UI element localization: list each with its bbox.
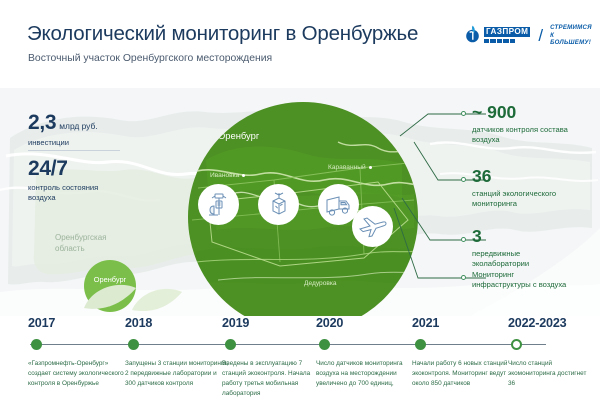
stat-mobile-labs-caption: передвижные эколаборатории [472, 249, 529, 270]
logo-brand-text: ГАЗПРОМ [484, 27, 530, 37]
timeline-year: 2021 [412, 316, 439, 330]
logo-divider: / [538, 27, 543, 44]
timeline-dot[interactable] [225, 339, 236, 350]
page-subtitle: Восточный участок Оренбургского месторож… [28, 53, 272, 64]
leader-endpoint-stations [461, 177, 466, 182]
stat-investment-value: 2,3 [28, 111, 56, 134]
timeline-description: Число станций экомониторинга достигнет 3… [508, 359, 594, 389]
timeline-year: 2020 [316, 316, 343, 330]
timeline: 2017 «Газпромнефть-Оренбург» создает сис… [0, 316, 600, 400]
place-dot [212, 134, 215, 137]
stat-air-infrastructure: Мониторинг инфраструктуры с воздуха [472, 270, 566, 291]
gazprom-neft-logo: ГАЗПРОМ / СТРЕМИМСЯ К БОЛЬШЕМУ! [466, 20, 588, 50]
timeline-dot[interactable] [128, 339, 139, 350]
timeline-dot[interactable] [415, 339, 426, 350]
page-title: Экологический мониторинг в Оренбуржье [27, 22, 418, 46]
timeline-axis [30, 344, 546, 345]
place-label-orenburg: Оренбург [212, 130, 259, 141]
stat-divider [28, 150, 120, 151]
stat-air-sensors-caption: датчиков контроля состава воздуха [472, 125, 568, 146]
timeline-dot[interactable] [319, 339, 330, 350]
stat-air-sensors-value: ~ 900 [472, 104, 568, 122]
airplane-icon [358, 215, 388, 239]
stat-air-infrastructure-caption: Мониторинг инфраструктуры с воздуха [472, 270, 566, 291]
infographic-root: Оренбургская область Оренбург [0, 0, 600, 400]
stat-air-sensors: ~ 900 датчиков контроля состава воздуха [472, 104, 568, 145]
stat-eco-stations-caption: станций экологического мониторинга [472, 189, 556, 210]
timeline-description: Введены в эксплуатацию 7 станций экоконт… [222, 359, 326, 399]
stat-investment-caption: инвестиции [28, 138, 98, 148]
place-label-karavanny: Караванный [328, 164, 372, 171]
stat-eco-stations: 36 станций экологического мониторинга [472, 168, 556, 209]
timeline-year: 2018 [125, 316, 152, 330]
stat-investment: 2,3млрд руб. инвестиции [28, 112, 98, 148]
timeline-dot[interactable] [31, 339, 42, 350]
leader-endpoint-sensors [461, 111, 466, 116]
gazprom-flame-icon [466, 25, 479, 45]
timeline-year: 2022-2023 [508, 316, 566, 330]
monitoring-station-icon [266, 192, 292, 218]
place-name: Ивановка [210, 172, 239, 179]
stat-mobile-labs: 3 передвижные эколаборатории [472, 228, 529, 269]
stat-mobile-labs-value: 3 [472, 228, 529, 246]
timeline-dot[interactable] [511, 339, 522, 350]
region-label: Оренбургская область [55, 233, 107, 255]
place-label-dedurovka: Дедуровка [304, 280, 337, 287]
stat-investment-unit: млрд руб. [59, 121, 97, 131]
logo-slogan-line1: СТРЕМИМСЯ [550, 24, 592, 31]
timeline-description: Начали работу 6 новых станций экоконтрол… [412, 359, 516, 389]
icon-bubble-sensor-post [198, 184, 239, 225]
stat-investment-value-row: 2,3млрд руб. [28, 112, 98, 134]
stat-247-value: 24/7 [28, 158, 98, 179]
place-label-ivanovka: Ивановка [210, 172, 245, 179]
region-label-line1: Оренбургская [55, 233, 107, 242]
stat-247-caption: контроль состояния воздуха [28, 183, 98, 204]
leader-endpoint-labs [461, 237, 466, 242]
place-name: Оренбург [218, 130, 259, 141]
place-dot [242, 174, 245, 177]
icon-bubble-monitoring-station [258, 184, 299, 225]
leader-endpoint-air [461, 275, 466, 280]
timeline-year: 2019 [222, 316, 249, 330]
page-header: Экологический мониторинг в Оренбуржье Во… [0, 0, 600, 88]
region-label-line2: область [55, 244, 85, 253]
icon-bubble-airplane [352, 206, 393, 247]
logo-slogan-line2: К БОЛЬШЕМУ! [550, 32, 592, 46]
timeline-description: «Газпромнефть-Оренбург» создает систему … [28, 359, 132, 389]
stat-monitoring-247: 24/7 контроль состояния воздуха [28, 158, 98, 204]
mobile-lab-truck-icon [325, 192, 353, 218]
logo-neft-blocks [484, 39, 530, 44]
leaf-decoration [78, 274, 208, 316]
place-name: Караванный [328, 164, 366, 171]
place-dot [369, 166, 372, 169]
place-name: Дедуровка [304, 280, 337, 287]
stat-eco-stations-value: 36 [472, 168, 556, 186]
timeline-description: Число датчиков мониторинга воздуха на ме… [316, 359, 420, 389]
timeline-description: Запущены 3 станции мониторинга, 2 передв… [125, 359, 229, 389]
logo-slogan: СТРЕМИМСЯ К БОЛЬШЕМУ! [550, 24, 592, 46]
sensor-post-icon [206, 192, 232, 218]
gazprom-wordmark: ГАЗПРОМ [484, 27, 530, 43]
timeline-year: 2017 [28, 316, 55, 330]
